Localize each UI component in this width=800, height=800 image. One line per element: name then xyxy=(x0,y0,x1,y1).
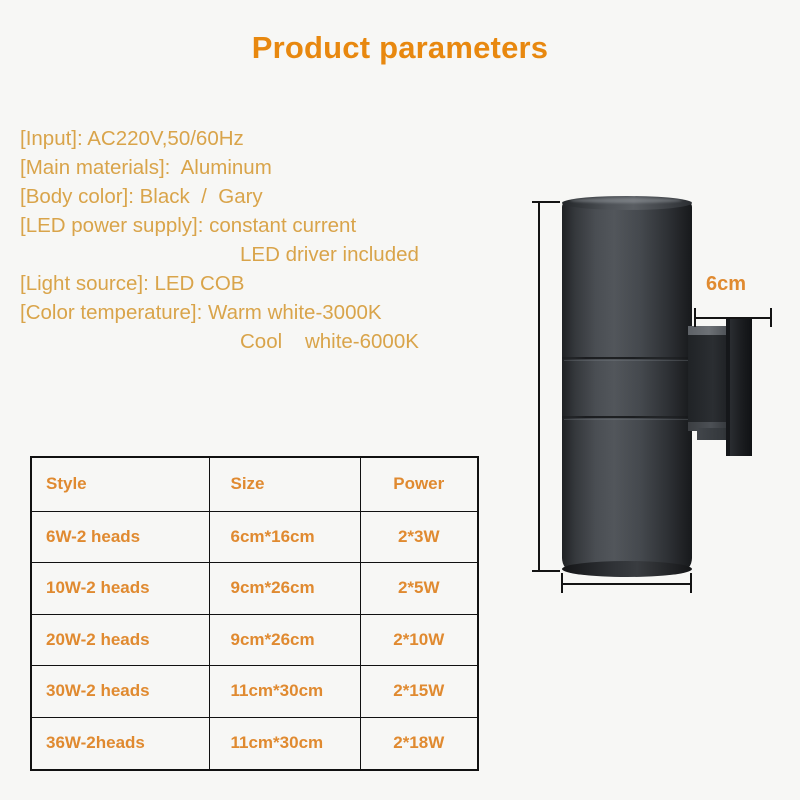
product-parameters-page: Product parameters [Input]: AC220V,50/60… xyxy=(0,0,800,800)
cell-size: 6cm*16cm xyxy=(209,511,360,563)
table-row: 10W-2 heads 9cm*26cm 2*5W xyxy=(32,563,477,615)
table-header-row: Style Size Power xyxy=(32,458,477,511)
cell-power: 2*10W xyxy=(360,614,477,666)
specification-table: Style Size Power 6W-2 heads 6cm*16cm 2*3… xyxy=(30,456,479,771)
cell-power: 2*3W xyxy=(360,511,477,563)
table-row: 30W-2 heads 11cm*30cm 2*15W xyxy=(32,666,477,718)
cell-size: 9cm*26cm xyxy=(209,614,360,666)
width-dimension-tick-left xyxy=(561,573,563,593)
height-dimension-cap-top xyxy=(532,201,560,203)
width-dimension-line xyxy=(561,583,692,585)
depth-dimension-tick-left xyxy=(694,308,696,327)
lamp-seam-lower xyxy=(562,416,692,418)
lamp-cylinder-body xyxy=(562,200,692,572)
cell-size: 9cm*26cm xyxy=(209,563,360,615)
column-header-size: Size xyxy=(209,458,360,511)
cell-power: 2*18W xyxy=(360,717,477,769)
cell-style: 10W-2 heads xyxy=(32,563,209,615)
table-row: 20W-2 heads 9cm*26cm 2*10W xyxy=(32,614,477,666)
height-dimension-line xyxy=(538,202,540,572)
height-dimension-cap-bottom xyxy=(532,570,560,572)
cell-style: 20W-2 heads xyxy=(32,614,209,666)
cell-power: 2*15W xyxy=(360,666,477,718)
width-dimension-tick-right xyxy=(690,573,692,593)
cell-size: 11cm*30cm xyxy=(209,666,360,718)
lamp-top-highlight xyxy=(570,198,682,203)
depth-dimension-label: 6cm xyxy=(706,273,746,296)
table-row: 36W-2heads 11cm*30cm 2*18W xyxy=(32,717,477,769)
depth-dimension-tick-right xyxy=(770,308,772,327)
cell-style: 36W-2heads xyxy=(32,717,209,769)
table-row: 6W-2 heads 6cm*16cm 2*3W xyxy=(32,511,477,563)
column-header-style: Style xyxy=(32,458,209,511)
lamp-seam-lower-highlight xyxy=(564,419,690,420)
lamp-bottom-rim xyxy=(562,561,692,577)
column-header-power: Power xyxy=(360,458,477,511)
depth-dimension-line xyxy=(694,317,772,319)
lamp-seam-upper xyxy=(562,357,692,359)
cell-power: 2*5W xyxy=(360,563,477,615)
cell-size: 11cm*30cm xyxy=(209,717,360,769)
cell-style: 30W-2 heads xyxy=(32,666,209,718)
bracket-wall-plate xyxy=(730,318,752,456)
cell-style: 6W-2 heads xyxy=(32,511,209,563)
lamp-seam-upper-highlight xyxy=(564,360,690,361)
